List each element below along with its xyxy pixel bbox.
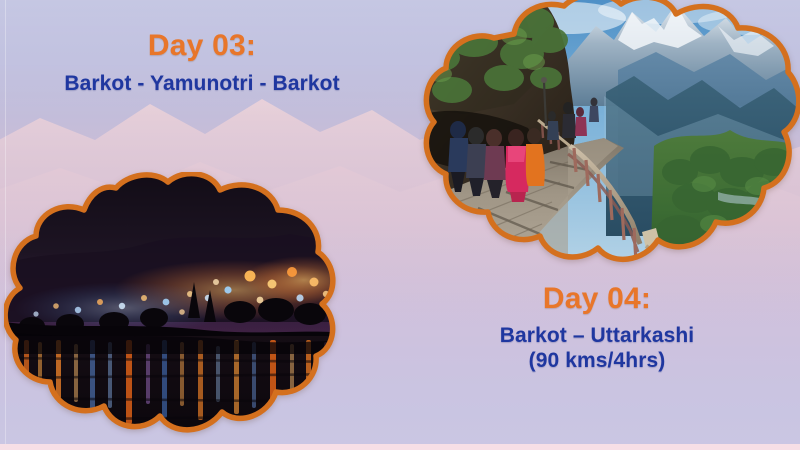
photo-frame-trail[interactable] (418, 0, 800, 281)
day03-subtitle: Barkot - Yamunotri - Barkot (0, 71, 404, 97)
day03-text-block: Day 03: Barkot - Yamunotri - Barkot (0, 30, 404, 96)
day04-heading: Day 04: (394, 283, 800, 315)
day04-subtitle-line1: Barkot – Uttarkashi (394, 323, 800, 349)
slide-canvas: Day 03: Barkot - Yamunotri - Barkot Day … (0, 0, 800, 450)
photo-frame-night[interactable] (4, 172, 350, 438)
day03-heading: Day 03: (0, 30, 404, 62)
day04-subtitle-line2: (90 kms/4hrs) (394, 348, 800, 374)
bottom-accent-band (0, 444, 800, 450)
day04-text-block: Day 04: Barkot – Uttarkashi (90 kms/4hrs… (394, 283, 800, 374)
